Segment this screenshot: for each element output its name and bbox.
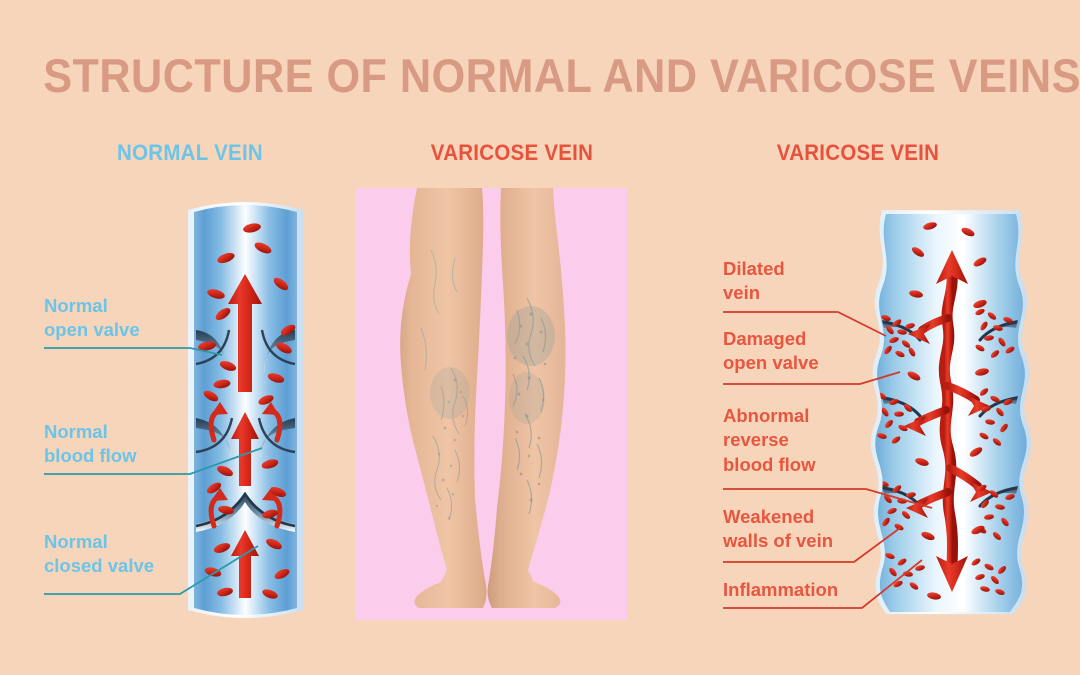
varicose-vein-illustration bbox=[868, 200, 1033, 624]
label-abnormal-reverse: Abnormal reverse blood flow bbox=[723, 404, 815, 477]
label-normal-blood-flow: Normal blood flow bbox=[44, 420, 136, 469]
label-dilated-vein: Dilated vein bbox=[723, 257, 785, 306]
page-title: STRUCTURE OF NORMAL AND VARICOSE VEINS bbox=[43, 48, 1037, 103]
label-normal-closed-valve: Normal closed valve bbox=[44, 530, 154, 579]
label-normal-open-valve: Normal open valve bbox=[44, 294, 140, 343]
varicose-legs-photo bbox=[355, 188, 627, 620]
heading-normal-vein: NORMAL VEIN bbox=[97, 140, 283, 166]
label-damaged-open-valve: Damaged open valve bbox=[723, 327, 819, 376]
label-inflammation: Inflammation bbox=[723, 578, 838, 602]
infographic-canvas: STRUCTURE OF NORMAL AND VARICOSE VEINS N… bbox=[0, 0, 1080, 675]
heading-varicose-diagram: VARICOSE VEIN bbox=[765, 140, 951, 166]
label-weakened-walls: Weakened walls of vein bbox=[723, 505, 833, 554]
heading-varicose-photo: VARICOSE VEIN bbox=[419, 140, 605, 166]
normal-vein-illustration bbox=[178, 196, 313, 624]
